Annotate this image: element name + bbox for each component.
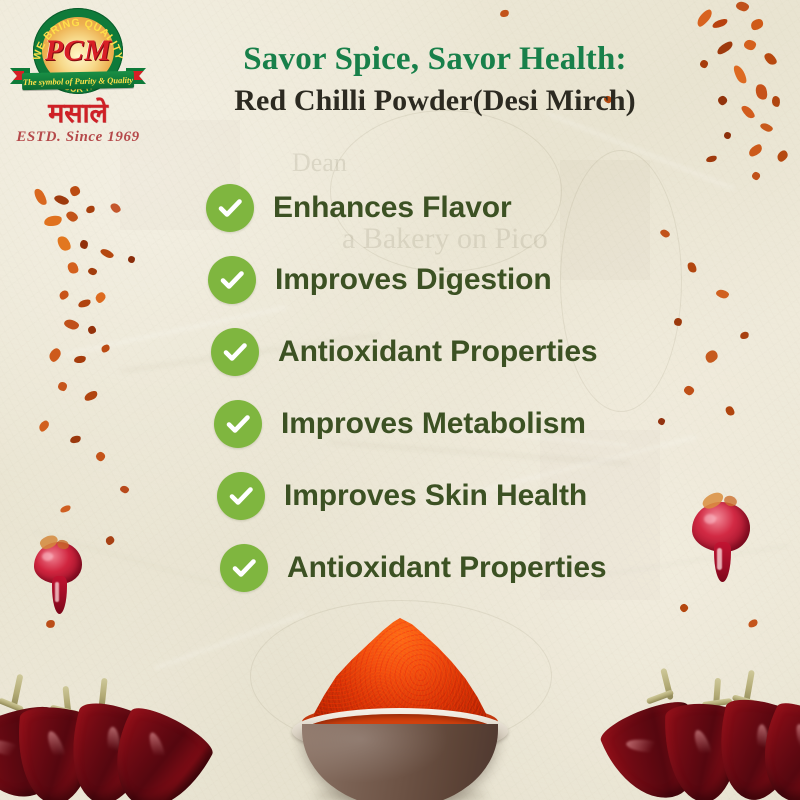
list-item-label: Improves Digestion (275, 263, 552, 297)
chilli-flake (724, 132, 731, 139)
check-circle-icon (211, 328, 259, 376)
page-title: Savor Spice, Savor Health: (150, 38, 720, 80)
logo-monogram: PCM (22, 36, 134, 66)
ribbon-label: The symbol of Purity & Quality (22, 71, 134, 90)
check-circle-icon (206, 184, 254, 232)
check-circle-icon (217, 472, 265, 520)
heading-group: Savor Spice, Savor Health: Red Chilli Po… (150, 38, 720, 122)
powder-mound (314, 618, 486, 722)
list-item: Improves Digestion (0, 244, 800, 316)
logo-hindi-word: मसाले (8, 98, 148, 128)
poster-canvas: Dean a Bakery on Pico (0, 0, 800, 800)
check-circle-icon (208, 256, 256, 304)
check-circle-icon (214, 400, 262, 448)
list-item: Antioxidant Properties (0, 532, 800, 604)
list-item: Improves Metabolism (0, 388, 800, 460)
list-item-label: Improves Skin Health (284, 479, 587, 513)
list-item: Improves Skin Health (0, 460, 800, 532)
brand-logo: WE BRING QUALITY AT YOUR HOME PCM The sy… (8, 2, 148, 154)
list-item: Enhances Flavor (0, 172, 800, 244)
list-item-label: Antioxidant Properties (278, 335, 598, 369)
check-circle-icon (220, 544, 268, 592)
dried-chillies-right (616, 652, 800, 800)
list-item-label: Antioxidant Properties (287, 551, 607, 585)
logo-ribbon: The symbol of Purity & Quality (10, 68, 146, 94)
page-subtitle: Red Chilli Powder(Desi Mirch) (150, 80, 720, 122)
benefits-list: Enhances Flavor Improves Digestion Antio… (0, 172, 800, 604)
list-item-label: Improves Metabolism (281, 407, 586, 441)
dried-chillies-left (0, 664, 230, 800)
list-item: Antioxidant Properties (0, 316, 800, 388)
powder-texture (314, 618, 486, 722)
list-item-label: Enhances Flavor (273, 191, 512, 225)
bowl-of-red-chilli-powder (268, 612, 532, 800)
logo-established: ESTD. Since 1969 (8, 128, 148, 146)
bowl-body (302, 724, 498, 800)
